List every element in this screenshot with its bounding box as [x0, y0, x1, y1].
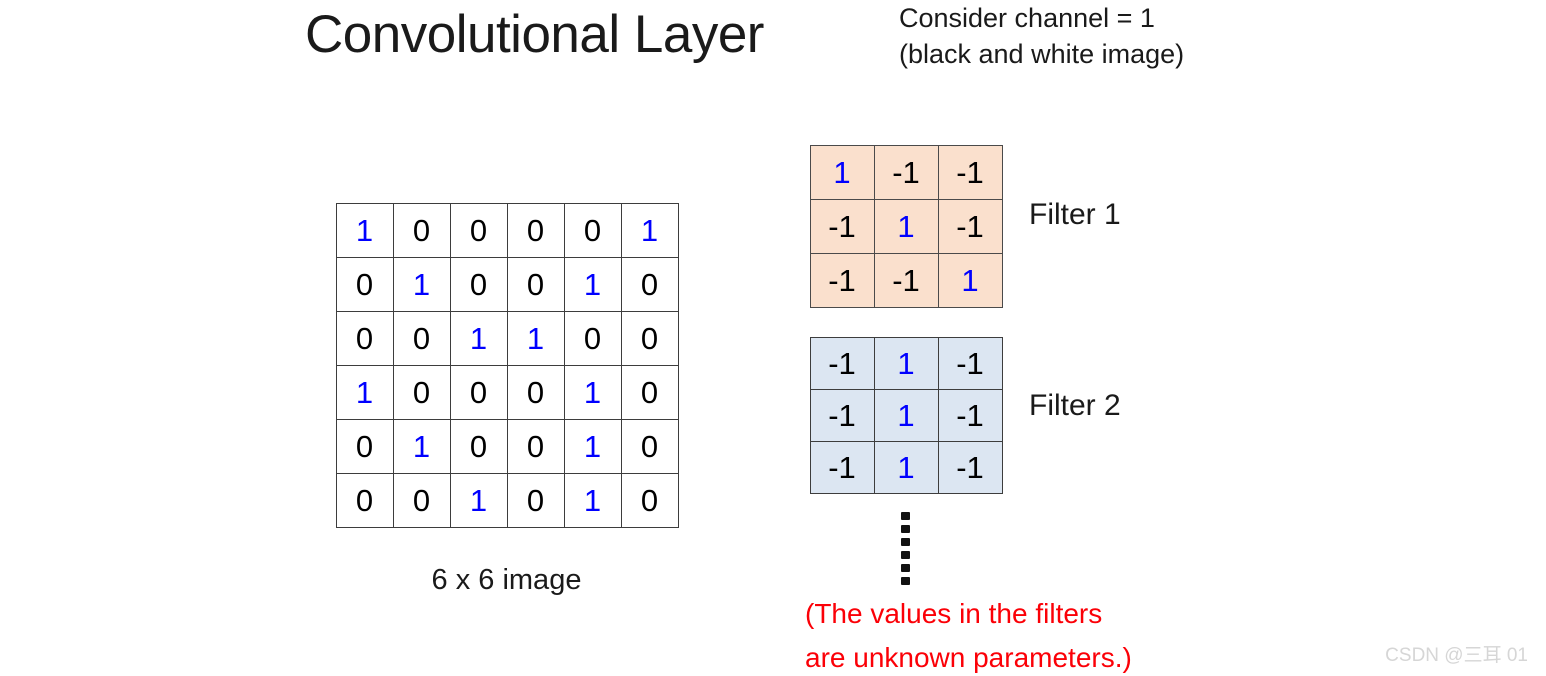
- input-image-cell-r1-c3: 0: [450, 203, 508, 258]
- filter-2-matrix: -11-1-11-1-11-1: [810, 337, 1002, 493]
- subtitle-line-2: (black and white image): [899, 36, 1184, 72]
- filter-1-cell-r3-c1: -1: [810, 253, 875, 308]
- filter-2-cell-r3-c3: -1: [938, 441, 1003, 494]
- input-image-matrix: 100001010010001100100010010010001010: [336, 203, 678, 527]
- input-image-cell-r6-c5: 1: [564, 473, 622, 528]
- filter-2-cell-r3-c2: 1: [874, 441, 939, 494]
- slide-canvas: Convolutional Layer Consider channel = 1…: [0, 0, 1546, 676]
- input-image-cell-r6-c2: 0: [393, 473, 451, 528]
- input-image-cell-r5-c5: 1: [564, 419, 622, 474]
- ellipsis-dot: [901, 538, 910, 546]
- filter-1-cell-r3-c2: -1: [874, 253, 939, 308]
- subtitle-block: Consider channel = 1 (black and white im…: [899, 0, 1184, 72]
- input-image-cell-r6-c1: 0: [336, 473, 394, 528]
- filter-2-cell-r2-c3: -1: [938, 389, 1003, 442]
- filter-1-cell-r1-c3: -1: [938, 145, 1003, 200]
- filter-note-line-1: (The values in the filters: [805, 592, 1132, 636]
- filter-1-matrix: 1-1-1-11-1-1-11: [810, 145, 1002, 307]
- input-image-cell-r6-c4: 0: [507, 473, 565, 528]
- input-image-cell-r5-c2: 1: [393, 419, 451, 474]
- vertical-ellipsis-icon: [901, 512, 910, 585]
- input-image-cell-r2-c5: 1: [564, 257, 622, 312]
- input-image-cell-r4-c2: 0: [393, 365, 451, 420]
- input-image-cell-r4-c3: 0: [450, 365, 508, 420]
- input-image-cell-r1-c4: 0: [507, 203, 565, 258]
- input-image-cell-r6-c6: 0: [621, 473, 679, 528]
- page-title: Convolutional Layer: [305, 4, 764, 65]
- input-image-cell-r5-c6: 0: [621, 419, 679, 474]
- filter-2-label: Filter 2: [1029, 389, 1121, 423]
- input-image-cell-r4-c1: 1: [336, 365, 394, 420]
- ellipsis-dot: [901, 564, 910, 572]
- filter-2-cell-r1-c1: -1: [810, 337, 875, 390]
- input-image-cell-r2-c1: 0: [336, 257, 394, 312]
- filter-2-cell-r2-c1: -1: [810, 389, 875, 442]
- filter-1-cell-r3-c3: 1: [938, 253, 1003, 308]
- input-image-cell-r2-c6: 0: [621, 257, 679, 312]
- input-image-cell-r3-c6: 0: [621, 311, 679, 366]
- input-image-cell-r2-c2: 1: [393, 257, 451, 312]
- input-image-cell-r4-c4: 0: [507, 365, 565, 420]
- input-image-cell-r5-c4: 0: [507, 419, 565, 474]
- ellipsis-dot: [901, 512, 910, 520]
- filter-2-cell-r1-c2: 1: [874, 337, 939, 390]
- filter-2-cell-r2-c2: 1: [874, 389, 939, 442]
- filter-1-cell-r2-c1: -1: [810, 199, 875, 254]
- input-image-cell-r3-c4: 1: [507, 311, 565, 366]
- input-image-cell-r6-c3: 1: [450, 473, 508, 528]
- input-image-cell-r3-c5: 0: [564, 311, 622, 366]
- filter-note: (The values in the filters are unknown p…: [805, 592, 1132, 676]
- input-image-cell-r2-c4: 0: [507, 257, 565, 312]
- filter-2-cell-r3-c1: -1: [810, 441, 875, 494]
- filter-1-cell-r2-c2: 1: [874, 199, 939, 254]
- filter-1-cell-r1-c1: 1: [810, 145, 875, 200]
- subtitle-line-1: Consider channel = 1: [899, 0, 1184, 36]
- filter-1-label: Filter 1: [1029, 198, 1121, 232]
- ellipsis-dot: [901, 577, 910, 585]
- input-image-caption: 6 x 6 image: [336, 564, 677, 597]
- input-image-cell-r5-c1: 0: [336, 419, 394, 474]
- filter-note-line-2: are unknown parameters.): [805, 636, 1132, 676]
- input-image-cell-r3-c2: 0: [393, 311, 451, 366]
- input-image-cell-r1-c2: 0: [393, 203, 451, 258]
- input-image-cell-r1-c5: 0: [564, 203, 622, 258]
- input-image-cell-r2-c3: 0: [450, 257, 508, 312]
- ellipsis-dot: [901, 551, 910, 559]
- input-image-cell-r4-c5: 1: [564, 365, 622, 420]
- input-image-cell-r3-c1: 0: [336, 311, 394, 366]
- filter-2-cell-r1-c3: -1: [938, 337, 1003, 390]
- input-image-cell-r3-c3: 1: [450, 311, 508, 366]
- input-image-cell-r1-c6: 1: [621, 203, 679, 258]
- input-image-cell-r4-c6: 0: [621, 365, 679, 420]
- filter-1-cell-r2-c3: -1: [938, 199, 1003, 254]
- input-image-cell-r1-c1: 1: [336, 203, 394, 258]
- watermark: CSDN @三耳 01: [1385, 640, 1528, 667]
- input-image-cell-r5-c3: 0: [450, 419, 508, 474]
- ellipsis-dot: [901, 525, 910, 533]
- filter-1-cell-r1-c2: -1: [874, 145, 939, 200]
